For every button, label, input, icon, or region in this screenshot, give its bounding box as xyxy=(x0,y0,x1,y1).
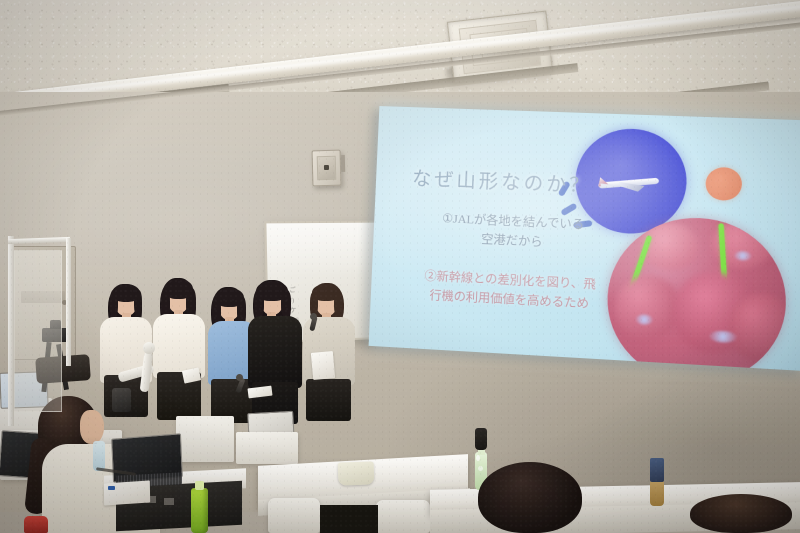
paper-mark xyxy=(108,486,115,490)
water-bottle xyxy=(93,441,105,471)
phone-stand xyxy=(650,458,664,482)
desk-partition xyxy=(176,416,234,462)
slide-surface: なぜ山形なのか？ ①JALが各地を結んでいる 空港だから ②新幹線との差別化を図… xyxy=(369,106,800,371)
dark-bottle xyxy=(475,428,487,450)
audience-face xyxy=(80,410,104,444)
chair-shadow xyxy=(320,505,378,533)
riser-slot xyxy=(164,498,174,505)
audience-head xyxy=(478,462,582,533)
rack-panel xyxy=(14,250,62,412)
handout xyxy=(104,480,150,505)
camera-icon xyxy=(112,388,131,412)
red-cap-item xyxy=(24,516,48,533)
chair xyxy=(376,500,430,533)
boom-joint xyxy=(143,342,155,354)
whiteboard-gloss xyxy=(266,223,378,278)
orange-circle-graphic xyxy=(705,167,743,202)
bottle-cap xyxy=(195,481,204,490)
green-bottle xyxy=(191,488,208,533)
bottle xyxy=(650,480,664,506)
classroom-presentation-photo: いちご (TAN) マーケ WINGS 計画 xyxy=(0,0,800,533)
pouch xyxy=(338,461,375,485)
speaker-icon xyxy=(312,150,342,187)
slide-title: なぜ山形なのか？ xyxy=(412,163,593,198)
slide-bullet-2: ②新幹線との差別化を図り、飛 行機の利用価値を高めるため xyxy=(405,266,616,314)
rack-pole xyxy=(66,238,71,366)
slide-bullet-1: ①JALが各地を結んでいる 空港だから xyxy=(419,208,607,254)
bottle-highlight xyxy=(478,466,483,471)
presenter-script xyxy=(311,351,335,380)
desk-partition xyxy=(236,432,298,464)
audience-head xyxy=(690,494,792,533)
chair xyxy=(268,498,320,533)
airplane-icon xyxy=(598,172,660,195)
projection-screen: なぜ山形なのか？ ①JALが各地を結んでいる 空港だから ②新幹線との差別化を図… xyxy=(369,106,800,371)
bottle-highlight xyxy=(476,455,480,461)
cherry-photo-circle xyxy=(604,214,790,371)
